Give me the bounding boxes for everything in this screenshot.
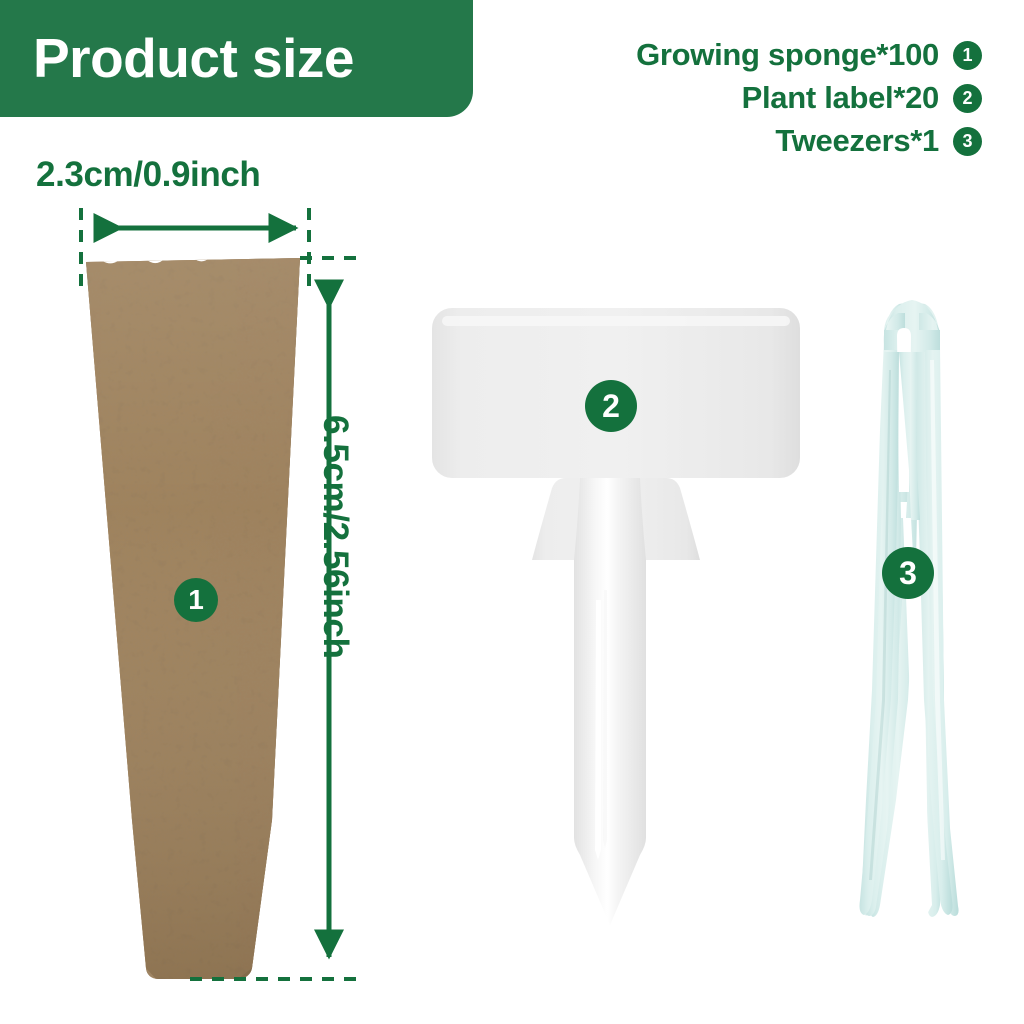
- header-banner: Product size: [0, 0, 473, 117]
- product-badge-tweezers: 3: [882, 547, 934, 599]
- legend-item-label: Tweezers*1: [775, 124, 939, 158]
- legend-item-label: Plant label*20: [742, 81, 939, 115]
- product-badge-growing-sponge: 1: [174, 578, 218, 622]
- legend-item-plant-label[interactable]: Plant label*20 2: [742, 81, 982, 115]
- legend-badge-3: 3: [953, 127, 982, 156]
- height-dimension-label: 6.5cm/2.56inch: [315, 415, 355, 658]
- page-title: Product size: [33, 31, 354, 86]
- tweezers-graphic: [860, 300, 959, 917]
- product-badge-plant-label: 2: [585, 380, 637, 432]
- width-dimension-label: 2.3cm/0.9inch: [36, 155, 260, 195]
- legend-item-label: Growing sponge*100: [636, 38, 939, 72]
- legend-list: Growing sponge*100 1 Plant label*20 2 Tw…: [636, 38, 982, 158]
- product-size-infographic: Product size Growing sponge*100 1 Plant …: [0, 0, 1024, 1024]
- legend-item-growing-sponge[interactable]: Growing sponge*100 1: [636, 38, 982, 72]
- legend-item-tweezers[interactable]: Tweezers*1 3: [775, 124, 982, 158]
- legend-badge-1: 1: [953, 41, 982, 70]
- legend-badge-2: 2: [953, 84, 982, 113]
